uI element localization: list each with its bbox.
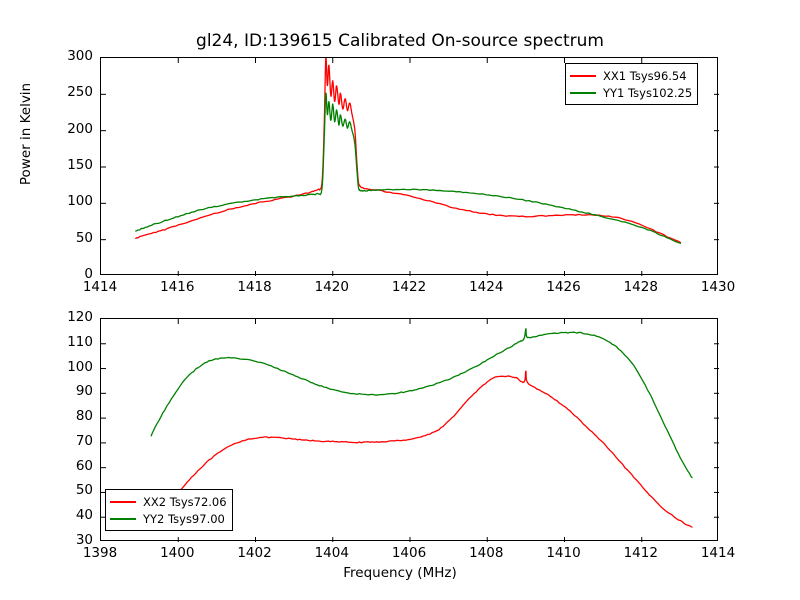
y-tick-label: 50	[33, 230, 93, 246]
x-tick-label: 1426	[534, 279, 594, 295]
x-tick-label: 1414	[688, 545, 748, 561]
x-tick-label: 1408	[456, 545, 516, 561]
x-tick-label: 1420	[302, 279, 362, 295]
legend-line-icon	[110, 501, 136, 503]
legend-label: XX1 Tsys96.54	[603, 69, 687, 83]
legend-label: YY2 Tsys97.00	[143, 512, 225, 526]
x-tick-label: 1400	[147, 545, 207, 561]
x-tick-label: 1410	[534, 545, 594, 561]
x-tick-label: 1412	[611, 545, 671, 561]
y-tick-label: 100	[33, 193, 93, 209]
y-tick-label: 90	[33, 383, 93, 399]
y-tick-label: 50	[33, 482, 93, 498]
y-tick-label: 60	[33, 458, 93, 474]
x-axis-label: Frequency (MHz)	[0, 565, 800, 581]
x-tick-label: 1406	[379, 545, 439, 561]
top-plot-legend: XX1 Tsys96.54YY1 Tsys102.25	[565, 63, 698, 105]
x-tick-label: 1424	[456, 279, 516, 295]
legend-label: XX2 Tsys72.06	[143, 495, 227, 509]
bottom-plot-legend: XX2 Tsys72.06YY2 Tsys97.00	[105, 489, 233, 531]
y-tick-label: 30	[33, 532, 93, 548]
figure-title: gl24, ID:139615 Calibrated On-source spe…	[0, 31, 800, 51]
legend-entry: YY2 Tsys97.00	[110, 510, 227, 527]
legend-line-icon	[570, 92, 596, 94]
x-tick-label: 1416	[147, 279, 207, 295]
y-tick-label: 80	[33, 408, 93, 424]
y-tick-label: 250	[33, 84, 93, 100]
x-tick-label: 1418	[225, 279, 285, 295]
figure-canvas: gl24, ID:139615 Calibrated On-source spe…	[0, 0, 800, 600]
x-tick-label: 1402	[225, 545, 285, 561]
y-axis-label-top: Power in Kelvin	[18, 34, 34, 234]
x-tick-label: 1428	[611, 279, 671, 295]
y-tick-label: 300	[33, 48, 93, 64]
y-tick-label: 110	[33, 334, 93, 350]
legend-entry: YY1 Tsys102.25	[570, 84, 692, 101]
legend-entry: XX1 Tsys96.54	[570, 67, 692, 84]
x-tick-label: 1422	[379, 279, 439, 295]
y-tick-label: 0	[33, 266, 93, 282]
y-tick-label: 40	[33, 507, 93, 523]
y-tick-label: 120	[33, 309, 93, 325]
y-tick-label: 100	[33, 359, 93, 375]
y-tick-label: 150	[33, 157, 93, 173]
legend-entry: XX2 Tsys72.06	[110, 493, 227, 510]
y-tick-label: 200	[33, 121, 93, 137]
legend-line-icon	[570, 75, 596, 77]
y-tick-label: 70	[33, 433, 93, 449]
x-tick-label: 1404	[302, 545, 362, 561]
x-tick-label: 1430	[688, 279, 748, 295]
legend-label: YY1 Tsys102.25	[603, 86, 692, 100]
legend-line-icon	[110, 518, 136, 520]
